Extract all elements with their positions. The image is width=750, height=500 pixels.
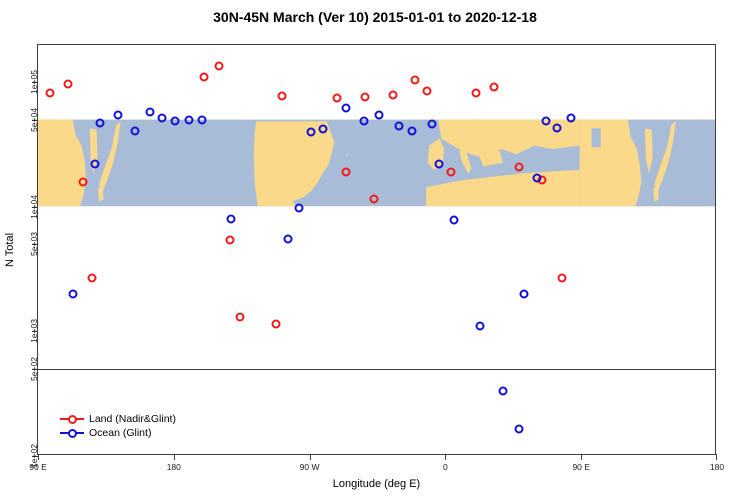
data-point-ocean: [519, 290, 528, 299]
y-tick-label-text: 5e+04: [29, 108, 39, 132]
x-tick: [581, 454, 582, 460]
data-point-land: [332, 94, 341, 103]
data-point-ocean: [553, 124, 562, 133]
data-point-ocean: [307, 128, 316, 137]
data-point-land: [370, 195, 379, 204]
data-point-ocean: [130, 126, 139, 135]
y-tick-label-text: 5e+02: [29, 357, 39, 381]
x-tick: [310, 454, 311, 460]
data-point-ocean: [435, 160, 444, 169]
data-point-ocean: [515, 424, 524, 433]
data-point-ocean: [533, 174, 542, 183]
x-tick: [174, 454, 175, 460]
data-point-ocean: [295, 204, 304, 213]
data-point-ocean: [68, 290, 77, 299]
legend-marker-icon: [60, 413, 84, 425]
y-tick-label-text: 5e+03: [29, 233, 39, 257]
data-point-ocean: [184, 115, 193, 124]
data-point-ocean: [319, 125, 328, 134]
data-point-land: [88, 273, 97, 282]
y-tick-label-text: 1e+03: [29, 320, 39, 344]
x-tick-label: 90 E: [29, 462, 47, 472]
legend-marker-icon: [60, 427, 84, 439]
legend-entry[interactable]: Land (Nadir&Glint): [60, 412, 176, 426]
x-axis-title: Longitude (deg E): [37, 478, 716, 490]
x-tick-label: 180: [167, 462, 181, 472]
data-point-land: [225, 236, 234, 245]
data-point-ocean: [498, 387, 507, 396]
data-point-ocean: [566, 113, 575, 122]
legend-circle-icon: [68, 429, 77, 438]
data-point-ocean: [375, 110, 384, 119]
data-point-ocean: [408, 126, 417, 135]
data-point-land: [46, 89, 55, 98]
data-point-land: [341, 168, 350, 177]
x-tick-label: 90 E: [572, 462, 590, 472]
x-tick-label: 180: [710, 462, 724, 472]
plot-frame: 1e+055e+041e+045e+031e+035e+021e+02 90 E…: [37, 44, 716, 455]
page-title: 30N-45N March (Ver 10) 2015-01-01 to 202…: [0, 9, 750, 25]
data-point-ocean: [394, 121, 403, 130]
data-point-ocean: [145, 107, 154, 116]
y-tick-label-text: 1e+04: [29, 195, 39, 219]
data-point-land: [489, 82, 498, 91]
map-band-overlay: [38, 45, 715, 454]
y-tick-label-text: 1e+05: [29, 71, 39, 95]
legend-entry[interactable]: Ocean (Glint): [60, 426, 176, 440]
data-point-land: [278, 91, 287, 100]
data-point-ocean: [341, 104, 350, 113]
data-point-land: [79, 177, 88, 186]
data-point-land: [471, 89, 480, 98]
data-point-ocean: [113, 110, 122, 119]
sea-caspian: [592, 128, 601, 147]
x-tick-label: 90 W: [300, 462, 320, 472]
reference-line: [38, 369, 715, 370]
legend-label: Ocean (Glint): [89, 426, 151, 440]
data-point-land: [199, 73, 208, 82]
data-point-land: [272, 319, 281, 328]
data-point-ocean: [157, 113, 166, 122]
data-point-land: [236, 313, 245, 322]
data-point-ocean: [427, 120, 436, 129]
data-point-ocean: [91, 160, 100, 169]
legend-label: Land (Nadir&Glint): [89, 412, 176, 426]
data-point-ocean: [450, 216, 459, 225]
data-point-land: [557, 273, 566, 282]
data-point-ocean: [198, 115, 207, 124]
data-point-land: [423, 86, 432, 95]
x-tick-label: 0: [443, 462, 448, 472]
data-point-land: [215, 62, 224, 71]
data-point-ocean: [542, 117, 551, 126]
x-tick: [716, 454, 717, 460]
data-point-ocean: [171, 117, 180, 126]
legend: Land (Nadir&Glint)Ocean (Glint): [60, 412, 176, 440]
data-point-land: [361, 92, 370, 101]
data-point-land: [411, 76, 420, 85]
x-tick: [38, 454, 39, 460]
data-point-ocean: [227, 215, 236, 224]
data-point-ocean: [284, 235, 293, 244]
chart-root: 30N-45N March (Ver 10) 2015-01-01 to 202…: [0, 0, 750, 500]
map-band-svg: [38, 45, 715, 454]
data-point-ocean: [359, 117, 368, 126]
data-point-land: [388, 91, 397, 100]
x-tick: [445, 454, 446, 460]
island-bermuda: [346, 154, 348, 156]
data-point-land: [515, 162, 524, 171]
data-point-land: [447, 168, 456, 177]
plot-area: [38, 45, 715, 454]
legend-circle-icon: [68, 415, 77, 424]
y-axis-title: N Total: [4, 233, 16, 267]
data-point-ocean: [95, 119, 104, 128]
data-point-ocean: [476, 322, 485, 331]
data-point-land: [64, 80, 73, 89]
